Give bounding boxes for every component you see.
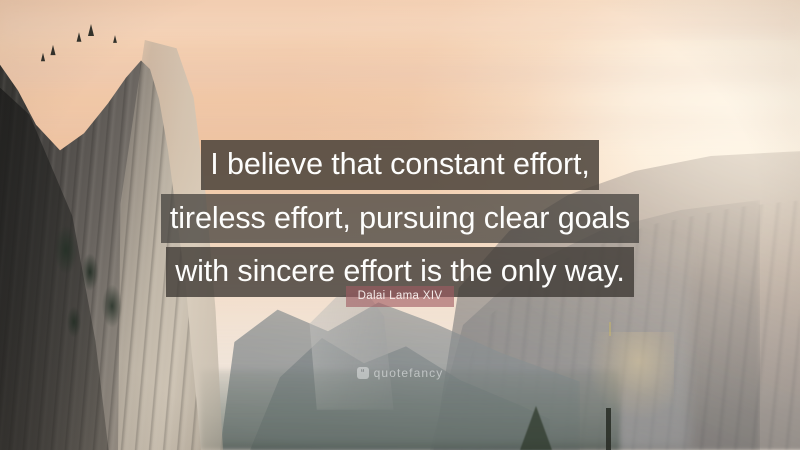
author-attribution: Dalai Lama XIV [0,286,800,307]
ridge-tree-icon [41,53,45,61]
quote-line-2: tireless effort, pursuing clear goals [161,194,639,244]
quotefancy-logo-icon: “ [357,367,369,379]
conifer-leader [609,322,611,336]
quote-text-block: I believe that constant effort, tireless… [0,140,800,301]
conifer-trunk [606,408,611,450]
ridge-tree-icon [88,24,94,36]
conifer-rim-light [548,332,674,450]
foreground-conifer [548,332,674,450]
quote-line-1: I believe that constant effort, [201,140,599,190]
author-name: Dalai Lama XIV [346,286,455,307]
ridge-tree-icon [50,45,55,55]
watermark: “ quotefancy [0,366,800,380]
watermark-brand: quotefancy [374,366,444,380]
quote-image: I believe that constant effort, tireless… [0,0,800,450]
ridge-tree-icon [113,35,117,43]
ridge-tree-icon [77,32,82,42]
